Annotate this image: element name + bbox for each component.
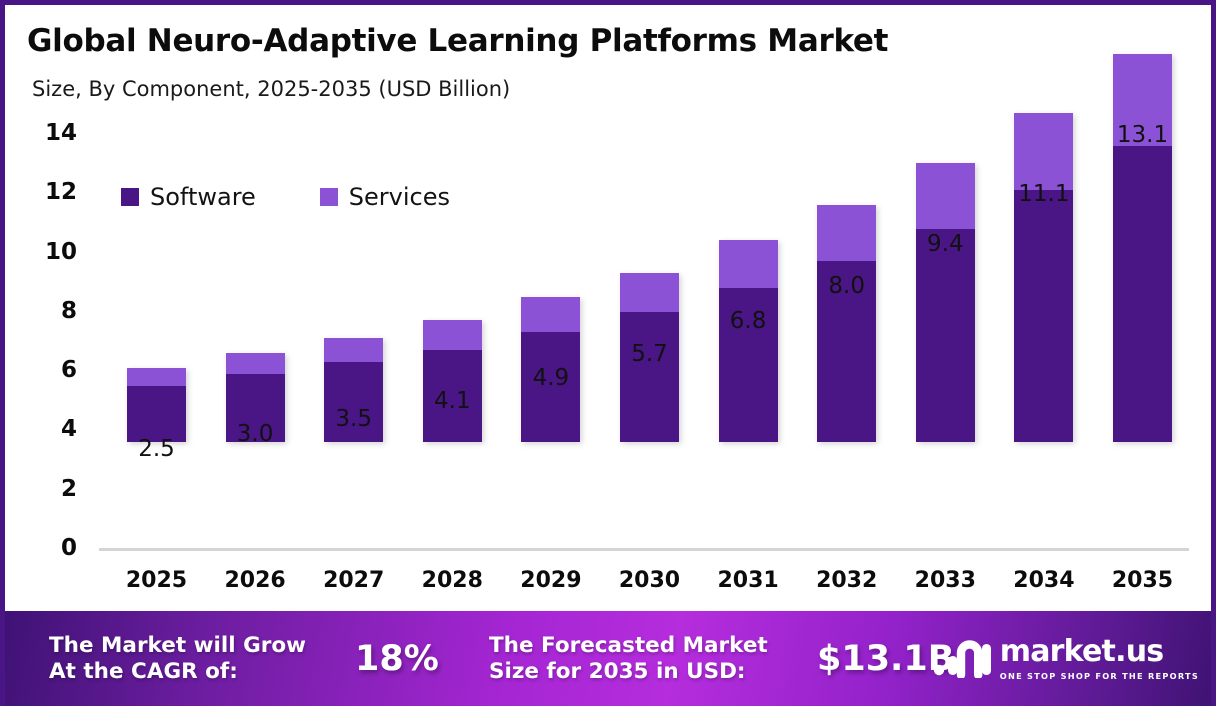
bar-value-label: 5.7 (600, 341, 700, 367)
bar-stack[interactable] (423, 320, 482, 442)
bar-segment-software[interactable] (127, 386, 186, 442)
forecast-size-label: The Forecasted MarketSize for 2035 in US… (489, 632, 768, 684)
bar-value-label: 4.1 (402, 388, 502, 414)
y-axis-tick: 2 (25, 476, 77, 502)
y-axis-tick: 8 (25, 298, 77, 324)
y-axis-tick: 10 (25, 239, 77, 265)
legend-item-software[interactable]: Software (121, 183, 256, 211)
legend-item-services[interactable]: Services (320, 183, 450, 211)
y-axis-tick: 6 (25, 357, 77, 383)
x-axis-tick: 2026 (205, 568, 305, 593)
bar-segment-software[interactable] (620, 312, 679, 442)
x-axis-tick: 2033 (895, 568, 995, 593)
bar-segment-software[interactable] (1014, 190, 1073, 442)
bar-chart-plot: 02468101214 2.53.03.54.14.95.76.88.09.41… (5, 5, 1216, 605)
logo-tagline: ONE STOP SHOP FOR THE REPORTS (1000, 671, 1199, 681)
bar-segment-services[interactable] (521, 297, 580, 333)
bar-stack[interactable] (1014, 113, 1073, 442)
bar-value-label: 4.9 (501, 365, 601, 391)
bar-segment-services[interactable] (916, 163, 975, 228)
logo-bars-icon (933, 636, 991, 682)
bar-segment-services[interactable] (1014, 113, 1073, 190)
bar-segment-services[interactable] (127, 368, 186, 386)
logo-name: market.us (1000, 637, 1164, 667)
bar-segment-services[interactable] (324, 338, 383, 362)
cagr-value: 18% (355, 639, 439, 679)
bar-stack[interactable] (916, 163, 975, 442)
x-axis-line (99, 548, 1189, 551)
x-axis-tick: 2032 (797, 568, 897, 593)
y-axis-tick: 12 (25, 179, 77, 205)
bar-stack[interactable] (1113, 54, 1172, 442)
bar-value-label: 13.1 (1093, 122, 1193, 148)
bar-segment-software[interactable] (916, 229, 975, 442)
x-axis-tick: 2027 (304, 568, 404, 593)
bar-segment-services[interactable] (226, 353, 285, 374)
bar-segment-software[interactable] (1113, 146, 1172, 442)
bar-stack[interactable] (127, 368, 186, 442)
bar-stack[interactable] (719, 240, 778, 442)
legend-swatch-icon (121, 188, 139, 206)
x-axis-tick: 2034 (994, 568, 1094, 593)
y-axis-tick: 14 (25, 120, 77, 146)
y-axis-tick: 4 (25, 416, 77, 442)
bar-stack[interactable] (817, 205, 876, 442)
bar-value-label: 3.0 (205, 421, 305, 447)
cagr-label: The Market will GrowAt the CAGR of: (49, 632, 306, 684)
bar-segment-services[interactable] (620, 273, 679, 312)
bar-value-label: 2.5 (107, 436, 207, 462)
chart-legend: SoftwareServices (121, 183, 450, 211)
chart-infographic: Global Neuro-Adaptive Learning Platforms… (0, 0, 1216, 706)
x-axis-tick: 2035 (1093, 568, 1193, 593)
logo-wordmark: market.us ONE STOP SHOP FOR THE REPORTS (1000, 637, 1199, 681)
x-axis-tick: 2028 (402, 568, 502, 593)
x-axis-tick: 2030 (600, 568, 700, 593)
bar-value-label: 9.4 (895, 231, 995, 257)
bar-value-label: 6.8 (698, 308, 798, 334)
x-axis-tick: 2029 (501, 568, 601, 593)
bar-value-label: 3.5 (304, 406, 404, 432)
bar-value-label: 11.1 (994, 181, 1094, 207)
bar-segment-services[interactable] (817, 205, 876, 261)
legend-swatch-icon (320, 188, 338, 206)
x-axis-tick: 2025 (107, 568, 207, 593)
x-axis-tick: 2031 (698, 568, 798, 593)
bar-segment-services[interactable] (423, 320, 482, 350)
bar-segment-services[interactable] (719, 240, 778, 287)
legend-label: Services (349, 183, 450, 211)
footer-banner: The Market will GrowAt the CAGR of: 18% … (5, 611, 1216, 706)
y-axis-tick: 0 (25, 535, 77, 561)
market-us-logo[interactable]: market.us ONE STOP SHOP FOR THE REPORTS (933, 636, 1199, 682)
bar-value-label: 8.0 (797, 273, 897, 299)
legend-label: Software (150, 183, 256, 211)
